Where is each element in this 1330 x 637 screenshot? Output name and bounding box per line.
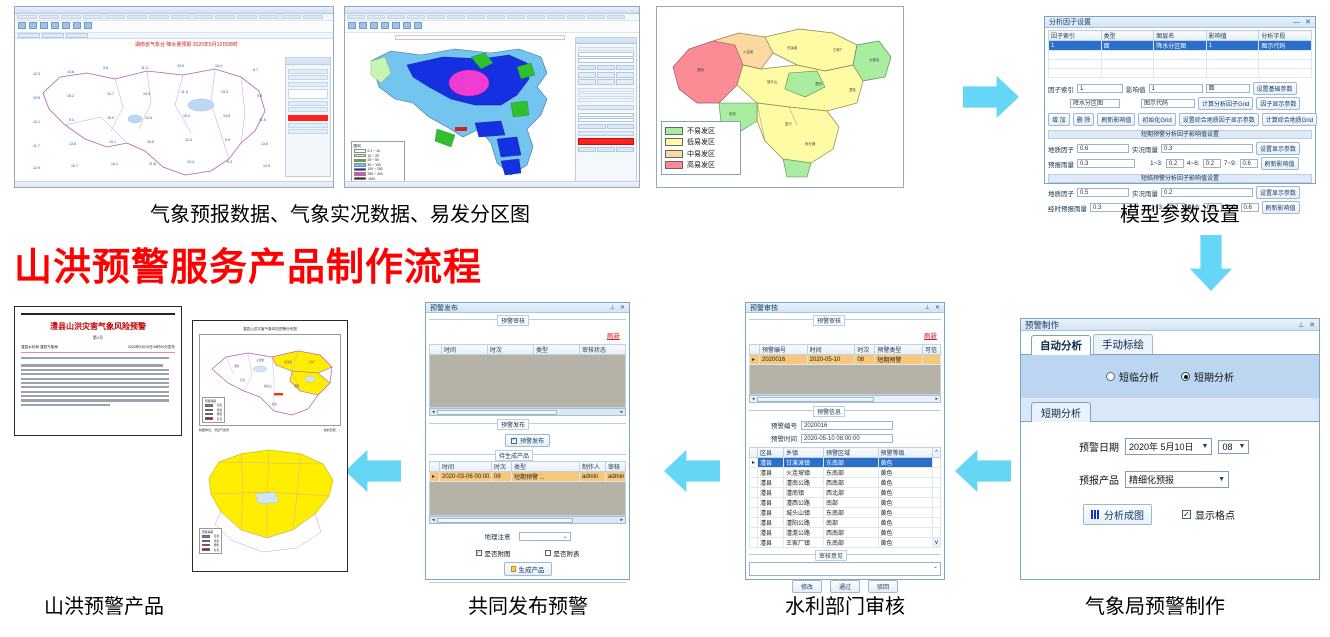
tab-short-term-inner[interactable]: 短期分析 [1031,402,1091,422]
svg-text:15.5: 15.5 [147,140,154,144]
checkbox-icon-checked: ✓ [1182,510,1191,519]
range-input-1a[interactable]: 0.2 [1166,159,1184,168]
map-legend-title: 预警等级 [205,399,222,403]
cell: 黄色 [878,528,933,538]
joint-release-window[interactable]: 预警发布 ⊥ ✕ 预警审核 刷新 时间 时次 类型 审核状态 ◂ ▸ [425,302,630,580]
svg-text:12.7: 12.7 [107,92,114,96]
doc-title: 澧县山洪灾害气象风险预警 [21,321,175,332]
map-title: 澧县山洪灾害气象风险预警分布图 [199,327,341,332]
svg-text:10.1: 10.1 [109,140,116,144]
svg-text:10.5: 10.5 [33,96,40,100]
chevron-down-icon[interactable]: ▼ [1218,476,1225,483]
layer-select[interactable]: 降水分区图 [1070,99,1120,108]
grid-icon [1091,510,1100,519]
col-type: 类型 [512,462,580,472]
svg-text:11.5: 11.5 [259,118,266,122]
warning-review-table[interactable]: 预警编号 时间 时次 预警类型 可信 ▸ 2020016 2020-05-10 … [749,344,941,365]
cell: 黄色 [878,518,933,528]
range-input-1b[interactable]: 0.2 [1203,159,1221,168]
cell: 澧南镇 [784,488,824,498]
cell: 澧澹公路 [784,528,824,538]
rain-map-canvas[interactable]: 图例 0.1 ~ 10 10 ~ 25 25 ~ 50 50 ~ 100 100… [345,33,639,188]
legend-row: 低易发区 [665,137,737,147]
cell: 1 [1206,41,1259,51]
legend-label: 黄色 [214,539,219,543]
group-generated-title: 待生成产品 [495,450,533,461]
rain-toolbar[interactable] [345,21,639,33]
svg-text:澧澹: 澧澹 [849,87,856,92]
page-title: 山洪预警服务产品制作流程 [14,236,482,291]
cell: 澧县 [758,488,784,498]
col-warning-no: 预警编号 [760,345,808,355]
rain-window-titlebar [345,7,639,14]
pin-icon[interactable]: ⊥ [925,304,930,311]
svg-text:城头山: 城头山 [264,384,272,388]
doc-issue-no: 第1号 [21,335,175,341]
set-basic-params-button[interactable]: 设置基础参数 [1253,82,1297,95]
close-icon[interactable]: ✕ [935,304,940,311]
arrow-met-to-water [955,448,1011,494]
radio-short-term[interactable]: 短期分析 [1181,369,1234,384]
svg-text:甘溪滩: 甘溪滩 [787,45,798,50]
generate-product-button[interactable]: 生成产品 [504,562,552,576]
show-grid-checkbox[interactable]: ✓ 显示格点 [1182,507,1235,522]
group1-title: 短期预警分析因子影响值设置 [1048,130,1312,139]
influence-input[interactable]: 1 [1149,84,1203,93]
calc-comprehensive-grid-button[interactable]: 计算综合地质Grid [1262,113,1317,126]
geo-factor-input-1[interactable]: 0.6 [1077,144,1129,153]
analyze-map-button[interactable]: 分析成图 [1083,504,1152,525]
analysis-mode-panel[interactable]: 短临分析 短期分析 [1021,355,1319,398]
attach-table-label: 是否附表 [554,548,580,558]
table-row[interactable]: ▸ 澧县 甘溪滩镇 东南部 黄色 [750,458,941,468]
svg-text:官垸: 官垸 [729,111,736,116]
cell: 2020-03-06 00:00... [440,472,492,482]
checkbox-icon-checked: ✓ [511,438,517,444]
tab-manual-plot[interactable]: 手动标绘 [1093,334,1153,354]
cell: 08 [492,472,512,482]
forecast-product-value: 精细化预报 [1129,473,1174,486]
legend-row: 中易发区 [665,149,737,159]
col-level: 预警等级 [878,448,933,458]
svg-text:14.1: 14.1 [111,162,118,166]
svg-text:火连坡: 火连坡 [256,358,264,362]
factor-table[interactable]: 因子索引 类型 图层名 影响值 分析字段 1 面 降水分区图 1 图示代码 [1048,30,1312,78]
generate-product-label: 生成产品 [519,564,545,574]
geo-factor-label-2: 地质因子 [1048,188,1074,198]
checkbox-icon [545,550,551,556]
set-display-params-button-1[interactable]: 设置显示参数 [1256,142,1300,155]
cell: 黄色 [878,498,933,508]
close-icon[interactable]: ✕ [1305,18,1311,26]
range-input-1c[interactable]: 0.6 [1240,159,1258,168]
svg-text:澧南: 澧南 [234,364,240,368]
generated-products-table[interactable]: 时间 时次 类型 制作人 审核 ▸ 2020-03-06 00:00... 08… [429,461,626,482]
svg-text:9.3: 9.3 [227,160,232,164]
warning-make-window[interactable]: 预警制作 ⊥ ✕ 自动分析 手动标绘 短临分析 短期分析 短期分析 [1020,318,1320,580]
factor-index-input[interactable]: 1 [1077,84,1123,93]
delete-button[interactable]: 删 除 [1073,113,1095,126]
doc-meta-right: 2020年5月10日08时00分发布 [128,345,175,350]
col-area: 预警区域 [824,448,879,458]
rain-menubar[interactable] [345,14,639,21]
table-header: 时间 时次 类型 制作人 审核 [430,462,626,472]
map-frame-top: 澧南火连坡甘溪滩 王家厂城头山澧阳 复兴官垸 预警等级 蓝色 黄色 橙色 红色 [199,334,341,426]
arrow-model-to-warning [1188,235,1234,291]
factor-table-header: 因子索引 类型 图层名 影响值 分析字段 [1049,31,1312,41]
warn-date-value: 2020年 5月10日 [1129,440,1194,453]
group-review-title: 预警审核 [813,315,845,326]
cell: 南部 [824,498,879,508]
caption-joint-release: 共同发布预警 [408,590,648,619]
svg-text:10.4: 10.4 [215,64,222,68]
minimize-icon[interactable]: — [1293,19,1300,26]
table-row[interactable] [1049,60,1312,69]
cell: 澧县 [758,468,784,478]
warn-date-picker[interactable]: 2020年 5月10日 ▼ [1125,438,1212,455]
cell: 澧县 [758,508,784,518]
svg-text:码头铺: 码头铺 [805,141,816,146]
forecast-rain-input-1[interactable]: 0.3 [1077,159,1135,168]
col-factor-index: 因子索引 [1049,31,1102,41]
water-review-window[interactable]: 预警审核 ⊥ ✕ 预警审核 刷新 预警编号 时间 时次 预警类型 可信 ▸ 20… [745,302,945,580]
document-icon [511,566,516,572]
attach-table-checkbox[interactable]: 是否附表 [545,548,580,558]
col-field: 分析字段 [1259,31,1312,41]
col-marker [750,448,758,458]
cell: 黄色 [878,458,933,468]
svg-text:12.3: 12.3 [33,72,40,76]
col-time: 时间 [807,345,855,355]
joint-release-titlebar: 预警发布 ⊥ ✕ [426,303,629,313]
review-table-hscroll[interactable]: ◂ ▸ [749,395,941,403]
rain-statusbar [345,181,639,187]
legend-swatch [665,138,683,146]
legend-label: 黄色 [217,408,222,412]
warning-time-label: 预警时间 [771,433,797,443]
svg-text:10.7: 10.7 [71,164,78,168]
cell: 2020016 [760,355,808,365]
rain-legend: 图例 0.1 ~ 10 10 ~ 25 25 ~ 50 50 ~ 100 100… [351,141,405,184]
cell: 东南部 [824,468,879,478]
svg-text:14.6: 14.6 [67,70,74,74]
legend-label: 不易发区 [687,126,715,136]
col-layer: 图层名 [1154,31,1207,41]
rain-layer-properties-panel[interactable] [575,37,637,183]
rain-input-1[interactable]: 0.3 [1161,144,1253,153]
svg-text:城头山: 城头山 [767,79,778,84]
caption-model-params: 模型参数设置 [1050,198,1310,227]
map-legend-bottom: 预警等级 蓝色 黄色 橙色 红色 [199,528,222,554]
geo-factor-label-1: 地质因子 [1048,144,1074,154]
svg-text:王家厂: 王家厂 [833,47,844,52]
cell: 澧县 [758,458,784,468]
table-row[interactable]: 澧县 澧南公路 西南部 黄色 [750,478,941,488]
calc-factor-grid-button[interactable]: 计算分析因子Grid [1198,97,1253,110]
caption-water-review: 水利部门审核 [725,590,965,619]
cell: 澧县 [758,478,784,488]
cell: 澧阳公路 [784,518,824,528]
refresh-influence-button[interactable]: 刷新影响值 [1097,113,1135,126]
svg-text:16.0: 16.0 [107,116,114,120]
geo-factor-input-2[interactable]: 0.5 [1077,188,1129,197]
col-type: 类型 [1101,31,1154,41]
cell: 短期预警 [875,355,923,365]
legend-swatch [665,150,683,158]
legend-swatch [665,161,683,169]
joint-release-title: 预警发布 [430,303,458,313]
svg-text:14.8: 14.8 [223,114,230,118]
cell: 东南部 [824,538,879,548]
cell: 黄色 [878,468,933,478]
cell: 甘溪滩镇 [784,458,824,468]
cell: 东南部 [824,458,879,468]
svg-text:12.6: 12.6 [145,116,152,120]
legend-label: 橙色 [214,543,219,547]
caption-met-bureau: 气象局预警制作 [1005,590,1305,619]
warning-map-bottom: 预警等级 蓝色 黄色 橙色 红色 [193,432,347,558]
map-legend-top: 预警等级 蓝色 黄色 橙色 红色 [202,397,225,423]
map-legend-title-2: 预警等级 [202,530,219,534]
forecast-product-select[interactable]: 精细化预报 ▼ [1125,471,1229,488]
col-hour: 时次 [855,345,875,355]
pin-icon[interactable]: ⊥ [610,304,615,311]
svg-text:13.0: 13.0 [177,64,184,68]
col-township: 乡镇 [784,448,824,458]
generated-hscroll[interactable]: ◂ ▸ [429,516,626,524]
cell: 澧县 [758,498,784,508]
table-row[interactable]: 澧县 澧阳公路 南部 黄色 [750,518,941,528]
region-label: 地理注意 [485,531,511,541]
col-marker [430,345,442,355]
cell: 西南部 [824,478,879,488]
radio-short-imminent-label: 短临分析 [1119,369,1159,384]
arrow-water-to-joint [664,448,720,494]
add-button[interactable]: 增 加 [1048,113,1070,126]
rain-map-toolbar-strip[interactable] [395,35,565,40]
svg-text:15.2: 15.2 [67,94,74,98]
legend-swatch [665,127,683,135]
legend-label: 高易发区 [687,160,715,170]
model-parameter-window[interactable]: 分析因子设置 — ✕ 因子索引 类型 图层名 影响值 分析字段 1 面 降水分区… [1044,16,1316,184]
svg-text:10.2: 10.2 [183,114,190,118]
cell: 黄色 [878,488,933,498]
warning-product-map-sheet[interactable]: 澧县山洪灾害气象风险预警分布图 澧南火连坡甘溪滩 王家厂城头山澧阳 复兴官垸 [192,320,348,572]
refresh-link[interactable]: 刷新 [607,333,620,340]
cell: 澧县 [758,538,784,548]
col-review: 审核 [606,462,626,472]
rainfall-map-screenshot[interactable]: 图例 0.1 ~ 10 10 ~ 25 25 ~ 50 50 ~ 100 100… [344,6,640,188]
factor-display-params-button[interactable]: 因子显示参数 [1256,97,1300,110]
svg-text:9.4: 9.4 [69,118,74,122]
col-time: 时间 [440,462,492,472]
col-marker [750,345,760,355]
doc-body [21,357,175,406]
range-label-1b: 4~6: [1187,160,1200,167]
cell: 澧西公路 [784,498,824,508]
generated-empty-area [429,482,626,516]
svg-text:9.8: 9.8 [103,66,108,70]
doc-top-rule [21,313,175,315]
cell: 1 [1049,41,1102,51]
cell: 西南部 [824,528,879,538]
forecast-window-titlebar [15,7,333,14]
cell: 城头山镇 [784,508,824,518]
svg-text:13.3: 13.3 [221,90,228,94]
field-select[interactable]: 图示代码 [1141,99,1195,108]
short-term-form[interactable]: 预警日期 2020年 5月10日 ▼ 08 ▼ 预报产品 精细化预报 ▼ 分析成… [1021,422,1319,533]
forecast-toolbar[interactable] [15,21,333,33]
warn-hour-picker[interactable]: 08 ▼ [1218,440,1249,454]
col-scroll: ^ [933,448,941,458]
checkbox-icon-checked: ✓ [476,550,482,556]
close-icon[interactable]: ✕ [620,304,625,311]
range-label-1c: 7~9: [1224,160,1237,167]
group-info-title: 预警信息 [813,406,845,417]
table-row[interactable] [1049,69,1312,78]
review-status-hscroll[interactable]: ◂ ▸ [429,408,626,416]
cell: admin [606,472,626,482]
attach-map-label: 是否附图 [485,548,511,558]
svg-text:复兴: 复兴 [785,121,792,126]
review-status-table[interactable]: 时间 时次 类型 审核状态 [429,344,626,355]
close-icon[interactable]: ✕ [1309,321,1315,329]
refresh-influence-button-1[interactable]: 刷新影响值 [1261,157,1299,170]
col-type: 类型 [534,345,580,355]
svg-text:13.6: 13.6 [261,142,268,146]
table-row[interactable]: 澧县 澧澹公路 西南部 黄色 [750,528,941,538]
table-row[interactable] [1049,51,1312,60]
refresh-link[interactable]: 刷新 [924,333,937,340]
radio-icon-selected [1181,372,1190,381]
rain-input-2[interactable]: 0.2 [1161,188,1253,197]
legend-label: 红色 [217,417,222,421]
col-marker [430,462,440,472]
table-row[interactable]: 澧县 澧西公路 南部 黄色 [750,498,941,508]
svg-text:11.9: 11.9 [181,90,188,94]
analyze-map-button-label: 分析成图 [1104,507,1144,522]
caption-inputs: 气象预报数据、气象实况数据、易发分区图 [130,198,550,227]
col-credible: 可信 [923,345,941,355]
review-opinion-input[interactable]: ⌄ [749,562,941,576]
tab-auto-analysis[interactable]: 自动分析 [1031,335,1091,355]
col-status: 审核状态 [580,345,626,355]
svg-text:13.1: 13.1 [33,120,40,124]
tab-auto-analysis-label: 自动分析 [1040,340,1082,352]
init-grid-button[interactable]: 初始化Grid [1138,113,1175,126]
table-header: 区县 乡镇 预警区域 预警等级 ^ [750,448,941,458]
show-grid-checkbox-label: 显示格点 [1195,507,1235,522]
warning-product-document[interactable]: 澧县山洪灾害气象风险预警 第1号 澧县水利局 澧县气象局 2020年5月10日0… [14,306,182,436]
warning-no-input[interactable]: 2020016 [801,421,893,430]
review-status-empty-area [429,355,626,408]
review-table-empty-area [749,365,941,395]
table-row[interactable]: ▸ 2020016 2020-05-10 08 短期预警 [750,355,941,365]
svg-text:11.2: 11.2 [141,66,148,70]
susceptibility-map-screenshot[interactable]: 澧南火连坡甘溪滩 王家厂大堰垱城头山 澧阳澧澹复兴 码头铺官垸 不易发区 低易发… [656,6,904,188]
legend-row: 不易发区 [665,126,737,136]
table-row[interactable]: 澧县 城头山镇 东南部 黄色 [750,508,941,518]
table-row[interactable]: 澧县 澧南镇 西北部 黄色 [750,488,941,498]
svg-text:8.7: 8.7 [253,68,258,72]
cell: 澧南公路 [784,478,824,488]
col-author: 制作人 [580,462,606,472]
cell [923,355,941,365]
cell: 08 [855,355,875,365]
col-county: 区县 [758,448,784,458]
svg-text:王家厂: 王家厂 [308,360,316,364]
svg-text:12.0: 12.0 [185,138,192,142]
factor-index-label: 因子索引 [1048,84,1074,94]
group-review-title: 预警审核 [497,315,529,326]
svg-text:9.6: 9.6 [257,94,262,98]
cell: 面 [1101,41,1154,51]
chevron-down-icon[interactable]: ▼ [1239,443,1246,450]
svg-text:大堰垱: 大堰垱 [869,57,880,62]
caption-warning-product: 山洪预警产品 [14,590,194,619]
table-row[interactable]: 澧县 火连坡镇 东南部 黄色 [750,468,941,478]
warning-detail-table[interactable]: 区县 乡镇 预警区域 预警等级 ^ ▸ 澧县 甘溪滩镇 东南部 黄色 澧县 火连… [749,447,941,548]
col-time: 时间 [442,345,488,355]
table-row[interactable]: 1 面 降水分区图 1 图示代码 [1049,41,1312,51]
forecast-side-panel[interactable] [285,57,331,177]
model-window-title: 分析因子设置 [1049,17,1091,27]
rain-label-2: 实况雨量 [1132,188,1158,198]
opinion-group-title: 审核意见 [815,550,847,561]
cell: 火连坡镇 [784,468,824,478]
pin-icon[interactable]: ⊥ [1298,321,1304,329]
table-row[interactable]: ▸ 2020-03-06 00:00... 08 短期预警 ... admin … [430,472,626,482]
radio-short-imminent[interactable]: 短临分析 [1106,369,1159,384]
forecast-menubar[interactable] [15,14,333,21]
forecast-statusbar [15,181,333,187]
cell: 南部 [824,518,879,528]
warn-date-label: 预警日期 [1079,439,1119,454]
svg-text:复兴: 复兴 [272,402,278,406]
svg-text:11.7: 11.7 [33,144,40,148]
table-header: 时间 时次 类型 审核状态 [430,345,626,355]
svg-text:澧阳: 澧阳 [294,384,300,388]
doc-pink-rule [21,352,175,354]
col-hour: 时次 [492,462,512,472]
svg-text:13.8: 13.8 [69,142,76,146]
group-publish-title: 预警发布 [497,419,529,430]
doc-meta-left: 澧县水利局 澧县气象局 [21,345,58,350]
forecast-data-screenshot[interactable]: 湖南省气象台 降水量预报 2020年5月10日08时 12.314.69.8 1… [14,6,334,188]
tab-manual-plot-label: 手动标绘 [1102,339,1144,351]
svg-text:13.4: 13.4 [187,160,194,164]
warning-time-input[interactable]: 2020-05-10 08:00:00 [801,434,893,443]
set-comprehensive-params-button[interactable]: 设置综合地质因子显示参数 [1179,113,1259,126]
warn-hour-value: 08 [1222,442,1232,452]
forecast-map-canvas[interactable]: 湖南省气象台 降水量预报 2020年5月10日08时 12.314.69.8 1… [15,39,333,188]
table-header: 预警编号 时间 时次 预警类型 可信 [750,345,941,355]
svg-text:12.9: 12.9 [33,166,40,170]
chevron-down-icon[interactable]: ▼ [1202,443,1209,450]
attach-map-checkbox[interactable]: ✓ 是否附图 [476,548,511,558]
forecast-rain-label-1: 预报雨量 [1048,159,1074,169]
cell: 黄色 [878,538,933,548]
tab-short-term-inner-label: 短期分析 [1041,409,1081,420]
cell: 降水分区图 [1154,41,1207,51]
table-row[interactable]: 澧县 王家厂镇 东南部 黄色 v [750,538,941,548]
publish-checkbox[interactable]: ✓ 预警发布 [505,434,550,447]
type-select[interactable]: 面 [1206,84,1250,93]
svg-text:14.4: 14.4 [143,92,150,96]
model-window-titlebar: 分析因子设置 — ✕ [1045,17,1315,28]
region-select[interactable]: ⌄ [519,532,571,541]
warning-make-titlebar: 预警制作 ⊥ ✕ [1021,319,1319,331]
